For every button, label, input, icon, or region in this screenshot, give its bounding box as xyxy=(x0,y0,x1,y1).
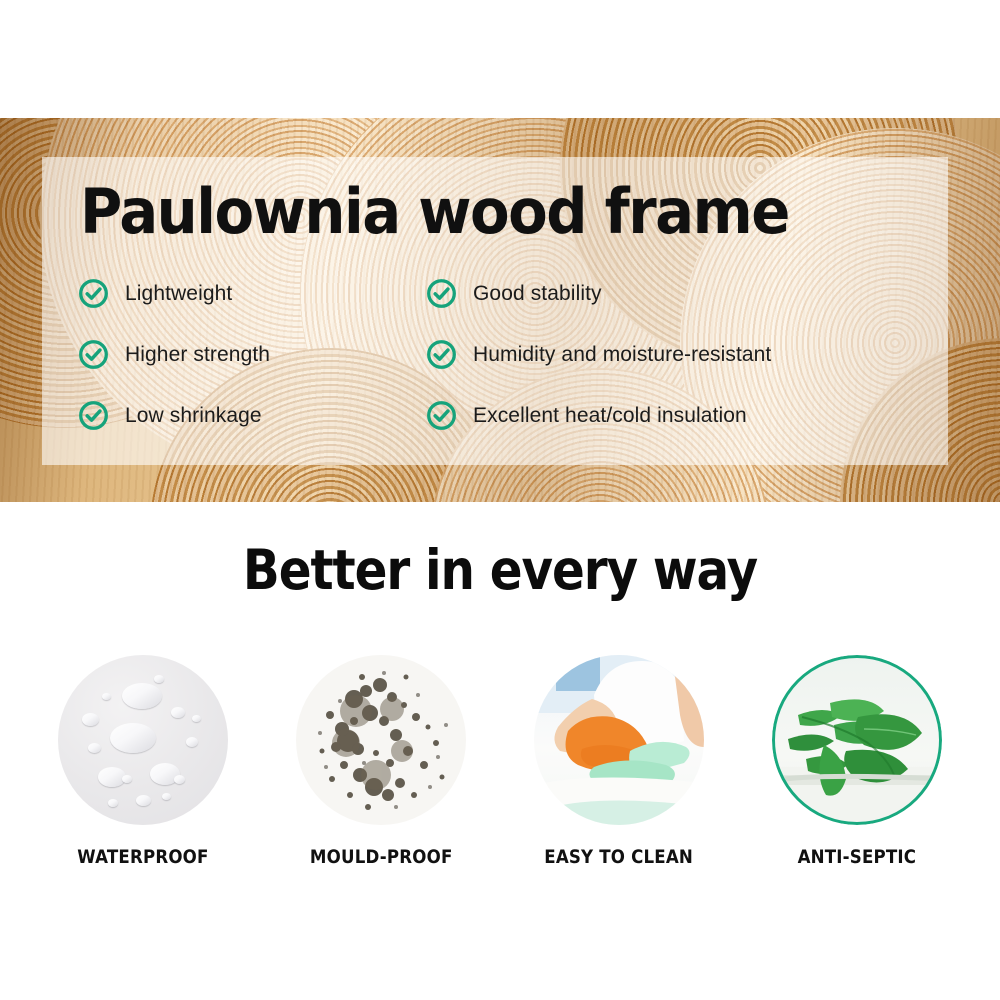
gloved-hand-wiping-icon xyxy=(534,655,704,825)
feature-label: Lightweight xyxy=(125,282,232,306)
feature-item: Good stability xyxy=(426,278,878,309)
feature-item: Low shrinkage xyxy=(78,400,426,431)
check-circle-icon xyxy=(426,400,457,431)
green-leaves-icon xyxy=(772,655,942,825)
section-heading: Better in every way xyxy=(60,538,940,602)
feature-label: Low shrinkage xyxy=(125,404,262,428)
water-droplets-icon xyxy=(58,655,228,825)
benefit-label: EASY TO CLEAN xyxy=(545,847,694,868)
benefit-label: MOULD-PROOF xyxy=(310,847,453,868)
check-circle-icon xyxy=(426,339,457,370)
benefit-item-easy-to-clean: EASY TO CLEAN xyxy=(524,655,714,868)
check-circle-icon xyxy=(78,400,109,431)
feature-label: Excellent heat/cold insulation xyxy=(473,404,747,428)
feature-label: Humidity and moisture-resistant xyxy=(473,343,771,367)
benefit-item-mould-proof: MOULD-PROOF xyxy=(286,655,476,868)
benefit-label: ANTI-SEPTIC xyxy=(798,847,917,868)
benefit-label: WATERPROOF xyxy=(77,847,208,868)
mould-spots-icon xyxy=(296,655,466,825)
benefit-row: WATERPROOF xyxy=(0,655,1000,868)
check-circle-icon xyxy=(426,278,457,309)
benefit-item-anti-septic: ANTI-SEPTIC xyxy=(762,655,952,868)
page-title: Paulownia wood frame xyxy=(80,178,789,246)
check-circle-icon xyxy=(78,339,109,370)
feature-item: Humidity and moisture-resistant xyxy=(426,339,878,370)
feature-label: Good stability xyxy=(473,282,602,306)
wood-feature-list: Lightweight Good stability Higher streng… xyxy=(78,278,878,431)
feature-item: Excellent heat/cold insulation xyxy=(426,400,878,431)
benefit-item-waterproof: WATERPROOF xyxy=(48,655,238,868)
feature-item: Higher strength xyxy=(78,339,426,370)
feature-item: Lightweight xyxy=(78,278,426,309)
check-circle-icon xyxy=(78,278,109,309)
feature-label: Higher strength xyxy=(125,343,270,367)
